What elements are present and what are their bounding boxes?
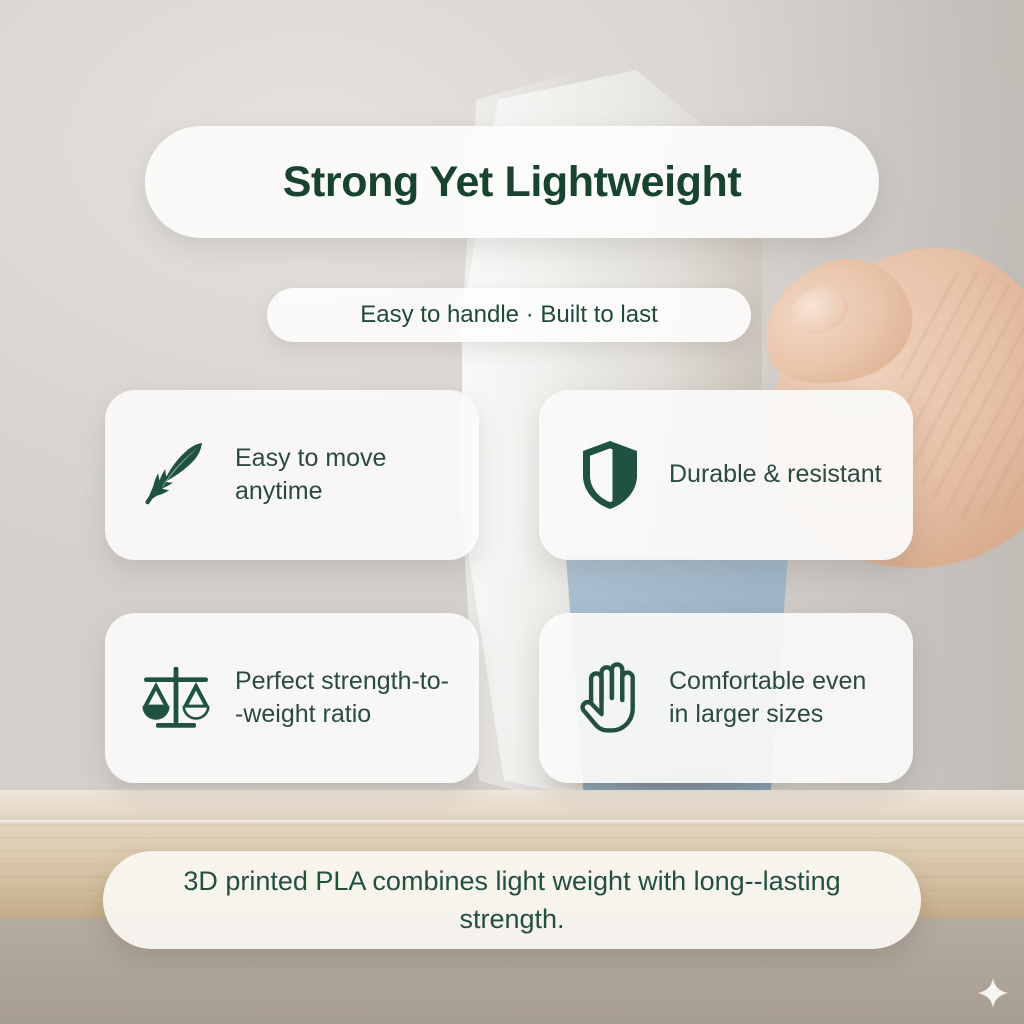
infographic-canvas: Strong Yet Lightweight Easy to handle · … (0, 0, 1024, 1024)
page-title: Strong Yet Lightweight (283, 158, 742, 207)
page-subtitle: Easy to handle · Built to last (360, 301, 658, 329)
footer-pill: 3D printed PLA combines light weight wit… (103, 851, 921, 949)
feature-card[interactable]: Comfortable even in larger sizes (539, 613, 913, 783)
feature-card[interactable]: Easy to move anytime (105, 390, 479, 560)
subtitle-pill: Easy to handle · Built to last (267, 288, 751, 342)
feature-label: Easy to move anytime (235, 442, 457, 509)
shield-icon (573, 436, 647, 514)
feature-card[interactable]: Perfect strength-to--weight ratio (105, 613, 479, 783)
feature-label: Durable & resistant (669, 458, 882, 491)
feature-label: Perfect strength-to--weight ratio (235, 665, 457, 732)
feature-label: Comfortable even in larger sizes (669, 665, 891, 732)
footer-text: 3D printed PLA combines light weight wit… (163, 862, 861, 939)
feature-card[interactable]: Durable & resistant (539, 390, 913, 560)
title-pill: Strong Yet Lightweight (145, 126, 879, 238)
open-hand-icon (573, 659, 647, 737)
sparkle-icon (978, 978, 1008, 1008)
overlay-ui: Strong Yet Lightweight Easy to handle · … (0, 0, 1024, 1024)
balance-scale-icon (139, 659, 213, 737)
feather-icon (139, 436, 213, 514)
